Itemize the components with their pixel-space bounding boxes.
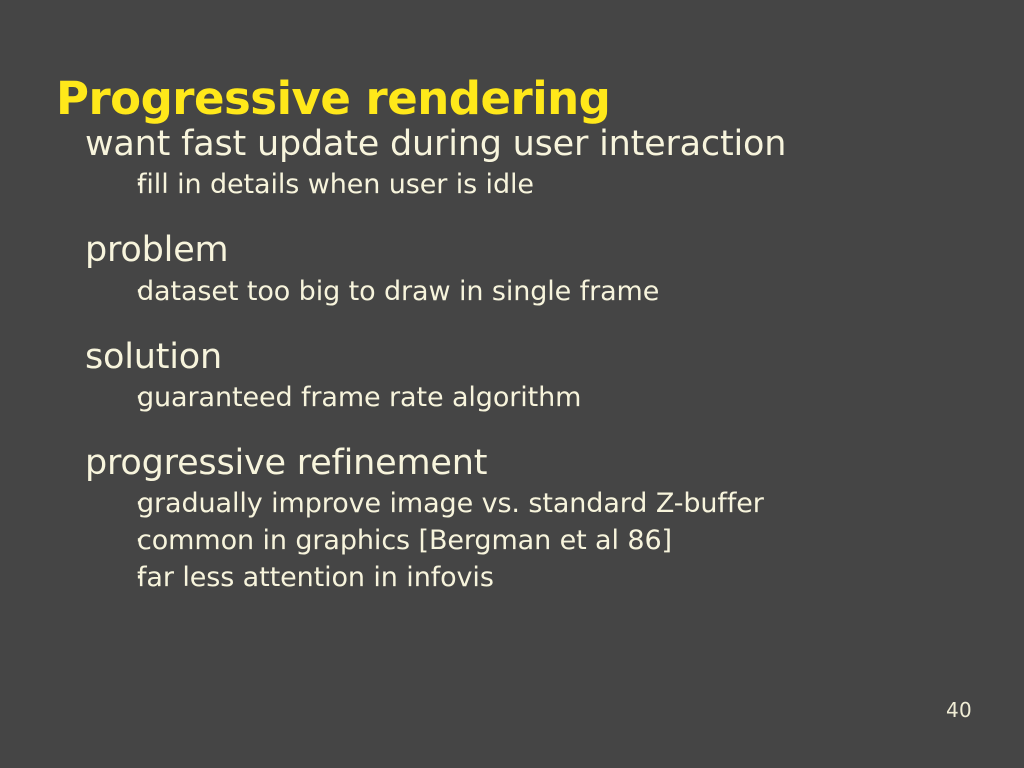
- sub-bullet-label: far less attention in infovis: [137, 562, 494, 593]
- sub-bullet-item: · gradually improve image vs. standard Z…: [85, 486, 985, 523]
- sub-bullet-item: · far less attention in infovis: [85, 560, 985, 597]
- sub-bullet-label: gradually improve image vs. standard Z-b…: [137, 488, 764, 519]
- bullet-dot-icon: ·: [135, 486, 143, 523]
- bullet-dot-icon: ·: [135, 560, 143, 597]
- sub-bullet-item: · guaranteed frame rate algorithm: [85, 380, 985, 417]
- bullet-dot-icon: ·: [135, 523, 143, 560]
- sub-bullet-label: guaranteed frame rate algorithm: [137, 382, 581, 413]
- bullet-heading: progressive refinement: [85, 443, 985, 484]
- sub-bullet-label: fill in details when user is idle: [137, 169, 534, 200]
- bullet-dot-icon: ·: [135, 167, 143, 204]
- sub-bullet-item: · common in graphics [Bergman et al 86]: [85, 523, 985, 560]
- presentation-slide: Progressive rendering want fast update d…: [0, 0, 1024, 768]
- bullet-group: want fast update during user interaction…: [85, 124, 985, 204]
- slide-body: want fast update during user interaction…: [85, 124, 985, 597]
- bullet-heading: want fast update during user interaction: [85, 124, 985, 165]
- bullet-group: progressive refinement · gradually impro…: [85, 443, 985, 597]
- bullet-dot-icon: ·: [135, 274, 143, 311]
- sub-bullet-list: · fill in details when user is idle: [85, 167, 985, 204]
- sub-bullet-list: · dataset too big to draw in single fram…: [85, 274, 985, 311]
- sub-bullet-item: · fill in details when user is idle: [85, 167, 985, 204]
- bullet-group: solution · guaranteed frame rate algorit…: [85, 337, 985, 417]
- page-number: 40: [946, 698, 972, 722]
- bullet-group: problem · dataset too big to draw in sin…: [85, 230, 985, 310]
- bullet-heading: solution: [85, 337, 985, 378]
- sub-bullet-label: dataset too big to draw in single frame: [137, 276, 659, 307]
- sub-bullet-item: · dataset too big to draw in single fram…: [85, 274, 985, 311]
- bullet-heading: problem: [85, 230, 985, 271]
- slide-title: Progressive rendering: [56, 75, 610, 122]
- sub-bullet-list: · gradually improve image vs. standard Z…: [85, 486, 985, 597]
- bullet-dot-icon: ·: [135, 380, 143, 417]
- sub-bullet-label: common in graphics [Bergman et al 86]: [137, 525, 672, 556]
- sub-bullet-list: · guaranteed frame rate algorithm: [85, 380, 985, 417]
